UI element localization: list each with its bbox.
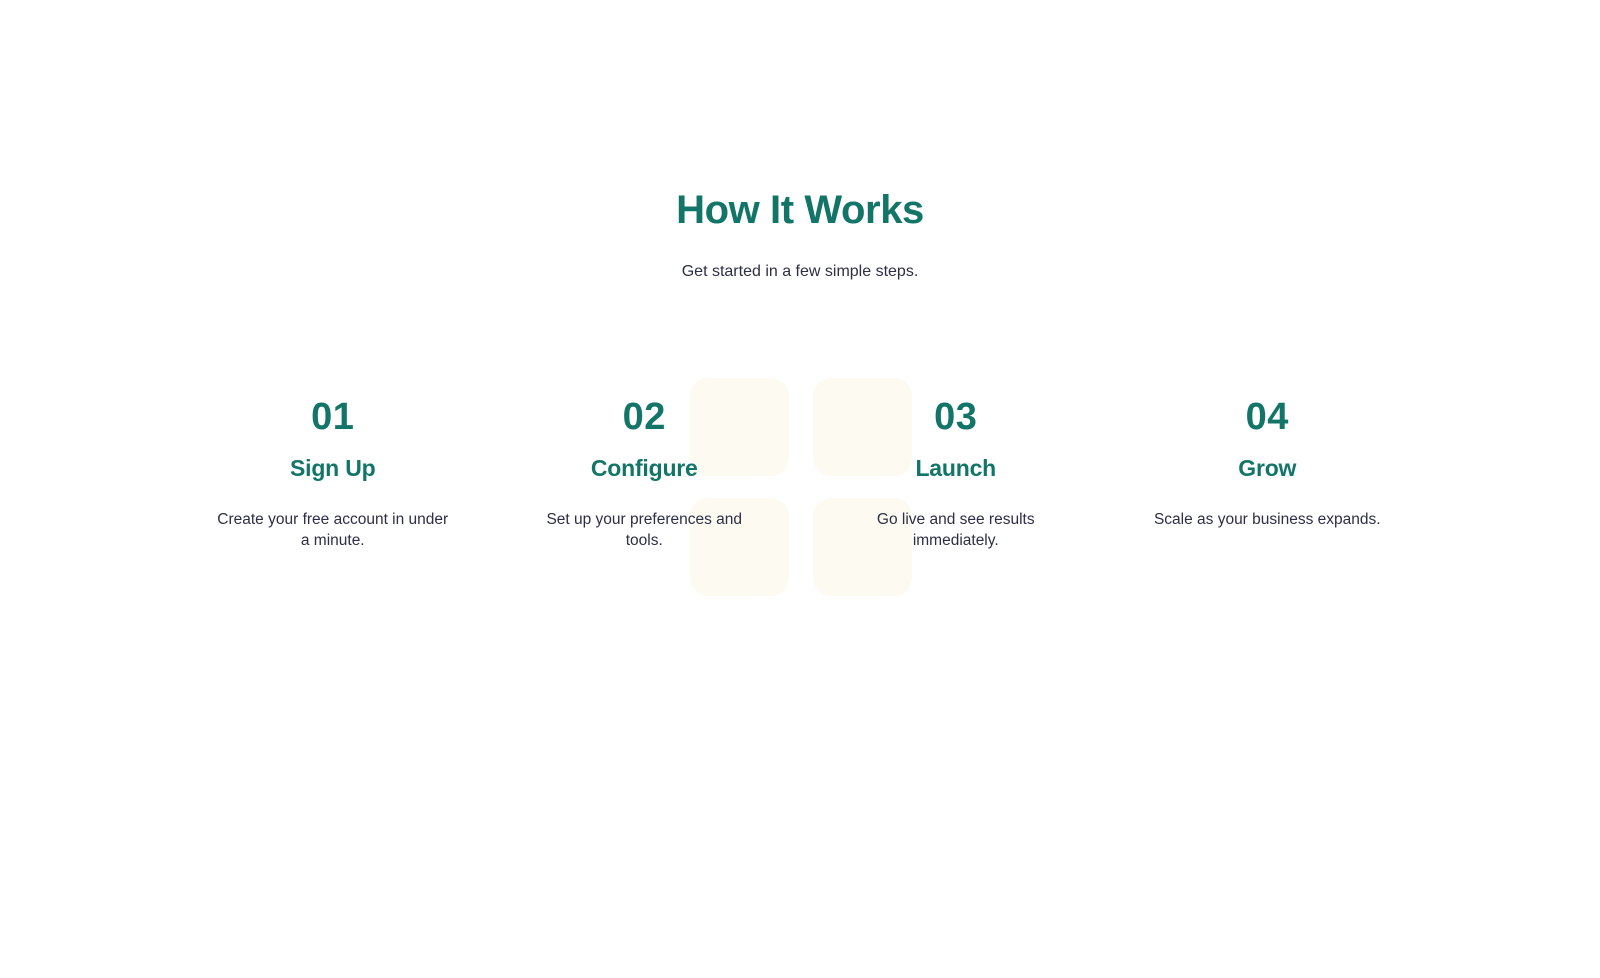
step-number: 04 <box>1126 394 1410 440</box>
step-number: 01 <box>191 394 475 440</box>
step-item-2: 02 Configure Set up your preferences and… <box>489 394 801 551</box>
step-number: 02 <box>503 394 787 440</box>
step-number: 03 <box>814 394 1098 440</box>
section-header: How It Works Get started in a few simple… <box>0 186 1600 284</box>
step-item-1: 01 Sign Up Create your free account in u… <box>177 394 489 551</box>
step-title: Grow <box>1126 453 1410 483</box>
section-subtitle: Get started in a few simple steps. <box>0 234 1600 284</box>
step-title: Configure <box>503 453 787 483</box>
step-description: Scale as your business expands. <box>1149 509 1385 530</box>
step-item-4: 04 Grow Scale as your business expands. <box>1112 394 1424 551</box>
steps-list: 01 Sign Up Create your free account in u… <box>0 394 1600 551</box>
step-item-3: 03 Launch Go live and see results immedi… <box>800 394 1112 551</box>
step-description: Go live and see results immediately. <box>838 509 1074 551</box>
page-title: How It Works <box>0 186 1600 234</box>
step-title: Sign Up <box>191 453 475 483</box>
step-description: Create your free account in under a minu… <box>215 509 451 551</box>
how-it-works-section: How It Works Get started in a few simple… <box>0 0 1600 551</box>
step-title: Launch <box>814 453 1098 483</box>
step-description: Set up your preferences and tools. <box>526 509 762 551</box>
